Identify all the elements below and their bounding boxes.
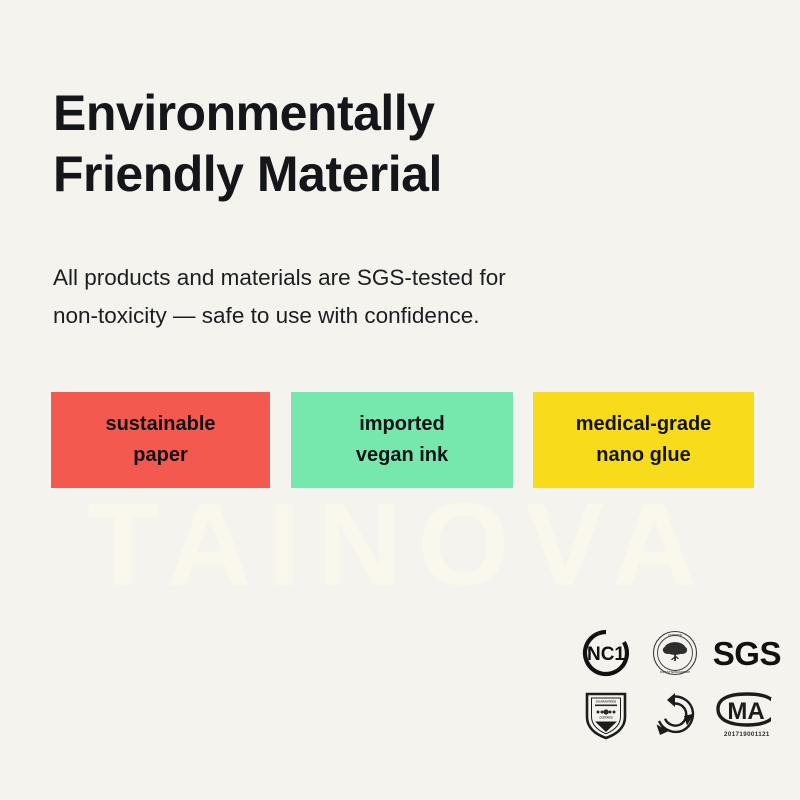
page-title: Environmentally Friendly Material xyxy=(53,83,673,205)
badge-sustainable-paper-line-2: paper xyxy=(133,440,187,471)
certification-logo-grid: NC1 CERTIFIED FOREST MANAGEMENT xyxy=(575,624,781,746)
badge-imported-vegan-ink-line-1: imported xyxy=(359,409,445,440)
recycling-icon xyxy=(644,684,707,746)
poster-canvas: TAINOVA Environmentally Friendly Materia… xyxy=(0,0,800,800)
brand-watermark: TAINOVA xyxy=(0,486,800,604)
badge-sustainable-paper: sustainable paper xyxy=(51,392,270,488)
badge-imported-vegan-ink-line-2: vegan ink xyxy=(356,440,448,471)
svg-text:FOREST MANAGEMENT: FOREST MANAGEMENT xyxy=(660,670,691,674)
body-description-line-2: non-toxicity — safe to use with confiden… xyxy=(53,297,653,336)
badge-imported-vegan-ink: imported vegan ink xyxy=(291,392,513,488)
svg-text:GUARANTEED: GUARANTEED xyxy=(596,699,616,703)
page-title-line-1: Environmentally xyxy=(53,83,673,144)
forest-seal-icon: CERTIFIED FOREST MANAGEMENT xyxy=(644,624,707,682)
material-badge-group: sustainable paper imported vegan ink med… xyxy=(51,392,757,488)
cma-code: 201719001121 xyxy=(724,731,770,738)
badge-medical-grade-nano-glue-line-2: nano glue xyxy=(596,440,690,471)
sgs-icon: SGS xyxy=(713,624,781,682)
body-description: All products and materials are SGS-teste… xyxy=(53,259,653,336)
svg-text:CERTIFIED: CERTIFIED xyxy=(600,717,613,720)
cma-icon: MA 201719001121 xyxy=(713,684,781,746)
body-description-line-1: All products and materials are SGS-teste… xyxy=(53,259,653,298)
badge-medical-grade-nano-glue: medical-grade nano glue xyxy=(533,392,754,488)
svg-text:NC1: NC1 xyxy=(587,644,625,665)
sgs-wordmark: SGS xyxy=(713,637,781,670)
svg-text:MA: MA xyxy=(727,698,764,725)
badge-medical-grade-nano-glue-line-1: medical-grade xyxy=(576,409,712,440)
badge-sustainable-paper-line-1: sustainable xyxy=(105,409,215,440)
nc1-icon: NC1 xyxy=(575,624,638,682)
shield-emblem-icon: GUARANTEED CERTIFIED xyxy=(575,684,638,746)
svg-text:CERTIFIED: CERTIFIED xyxy=(668,633,682,637)
page-title-line-2: Friendly Material xyxy=(53,144,673,205)
